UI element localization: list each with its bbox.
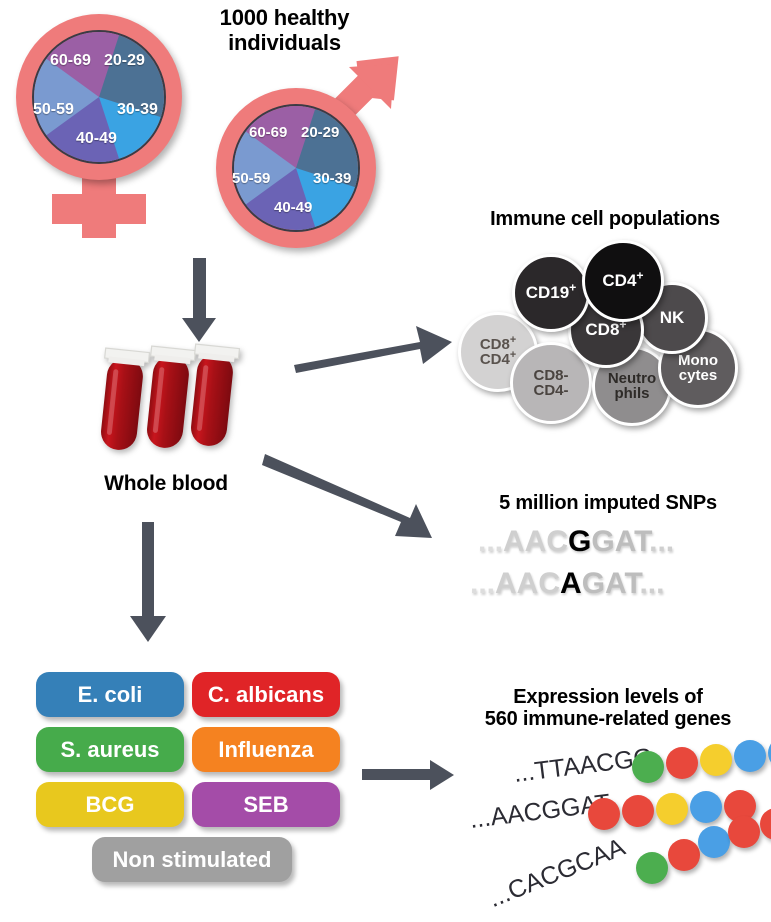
stimulus-bcg[interactable]: BCG xyxy=(36,782,184,827)
stimulus-s-aureus[interactable]: S. aureus xyxy=(36,727,184,772)
gene-bead-2-1 xyxy=(588,798,620,830)
pie-label-40-49: 40-49 xyxy=(76,130,117,148)
gene-bead-3-2 xyxy=(668,839,700,871)
stimulus-e-coli[interactable]: E. coli xyxy=(36,672,184,717)
gene-strand-group: ...TTAACGG ...AACGGAT ...CACGCAA xyxy=(440,742,771,922)
male-gender-symbol: 20-29 30-39 40-49 50-59 60-69 xyxy=(208,60,408,255)
snp-row1-suffix: ... xyxy=(649,525,674,558)
whole-blood-label: Whole blood xyxy=(76,472,256,496)
snp-row1-right: GAT xyxy=(591,525,649,558)
stimulus-label: SEB xyxy=(243,792,288,818)
pie-label-60-69: 60-69 xyxy=(249,124,287,141)
stimulus-label: Influenza xyxy=(218,737,313,763)
pie-label-50-59: 50-59 xyxy=(33,101,74,119)
female-gender-symbol: 20-29 30-39 40-49 50-59 60-69 xyxy=(8,10,198,240)
cohort-title-line2: individuals xyxy=(182,31,387,56)
blood-tube-group xyxy=(95,340,255,455)
snp-title: 5 million imputed SNPs xyxy=(458,492,758,514)
pie-label-30-39: 30-39 xyxy=(313,170,351,187)
immune-cell-cluster: CD8+CD4+ CD8-CD4- Neutrophils Monocytes … xyxy=(440,240,771,420)
gene-sequence-3: ...CACGCAA xyxy=(485,833,630,914)
stimulus-non-stimulated[interactable]: Non stimulated xyxy=(92,837,292,882)
gene-bead-1-4 xyxy=(734,740,766,772)
gene-strand-3: ...CACGCAA xyxy=(440,834,771,914)
figure-canvas: 1000 healthy individuals 20-29 30-39 40-… xyxy=(0,0,771,922)
pie-label-40-49: 40-49 xyxy=(274,199,312,216)
gene-bead-1-2 xyxy=(666,747,698,779)
cell-label: CD8+CD4+ xyxy=(480,337,516,368)
pie-label-30-39: 30-39 xyxy=(117,101,158,119)
stimulus-influenza[interactable]: Influenza xyxy=(192,727,340,772)
stimulus-seb[interactable]: SEB xyxy=(192,782,340,827)
stimulus-label: E. coli xyxy=(78,682,143,708)
gene-bead-3-4 xyxy=(728,816,760,848)
snp-row2-variant: A xyxy=(560,567,582,600)
cohort-title: 1000 healthy individuals xyxy=(182,6,387,55)
stimulus-label: C. albicans xyxy=(208,682,324,708)
cell-label: CD8-CD4- xyxy=(533,368,568,399)
snp-row1-left: AAC xyxy=(503,525,568,558)
arrow-to-immune-cells xyxy=(292,320,457,380)
cell-cd19-positive: CD19+ xyxy=(512,254,590,332)
gene-bead-1-1 xyxy=(632,751,664,783)
immune-cell-title: Immune cell populations xyxy=(440,208,770,230)
stimulus-c-albicans[interactable]: C. albicans xyxy=(192,672,340,717)
stimuli-panel: E. coli C. albicans S. aureus Influenza … xyxy=(36,672,346,892)
cell-label: Neutrophils xyxy=(608,371,656,402)
gene-bead-2-3 xyxy=(656,793,688,825)
pie-label-20-29: 20-29 xyxy=(104,52,145,70)
cell-label: NK xyxy=(660,309,685,327)
cell-label: CD19+ xyxy=(526,284,577,302)
gene-bead-3-3 xyxy=(698,826,730,858)
cell-label: CD4+ xyxy=(602,272,643,290)
gene-bead-2-4 xyxy=(690,791,722,823)
snp-sequences: ...AACGGAT... ...AACAGAT... xyxy=(470,525,760,615)
gene-expression-title: Expression levels of 560 immune-related … xyxy=(452,686,764,731)
snp-row2-right: GAT xyxy=(582,567,640,600)
snp-sequence-row-2: ...AACAGAT... xyxy=(470,567,664,601)
cell-cd4-positive: CD4+ xyxy=(582,240,664,322)
arrow-down-to-stimuli xyxy=(128,522,172,646)
gene-bead-2-2 xyxy=(622,795,654,827)
gene-title-line1: Expression levels of xyxy=(452,686,764,708)
snp-row2-prefix: ... xyxy=(470,567,495,600)
gene-title-line2: 560 immune-related genes xyxy=(452,708,764,730)
gene-bead-1-3 xyxy=(700,744,732,776)
pie-label-50-59: 50-59 xyxy=(232,170,270,187)
cohort-title-line1: 1000 healthy xyxy=(182,6,387,31)
arrow-down-to-blood xyxy=(180,258,220,344)
pie-label-20-29: 20-29 xyxy=(301,124,339,141)
snp-sequence-row-1: ...AACGGAT... xyxy=(478,525,674,559)
stimulus-label: Non stimulated xyxy=(113,847,272,873)
pie-label-60-69: 60-69 xyxy=(50,52,91,70)
cell-label: Monocytes xyxy=(678,353,718,384)
snp-row2-suffix: ... xyxy=(639,567,664,600)
cell-label: CD8+ xyxy=(585,321,626,339)
snp-row1-prefix: ... xyxy=(478,525,503,558)
stimulus-label: BCG xyxy=(86,792,135,818)
stimulus-label: S. aureus xyxy=(60,737,159,763)
gene-bead-3-1 xyxy=(636,852,668,884)
snp-row1-variant: G xyxy=(568,525,591,558)
female-stem-cross xyxy=(52,194,146,224)
arrow-to-snps xyxy=(262,452,462,552)
snp-row2-left: AAC xyxy=(495,567,560,600)
